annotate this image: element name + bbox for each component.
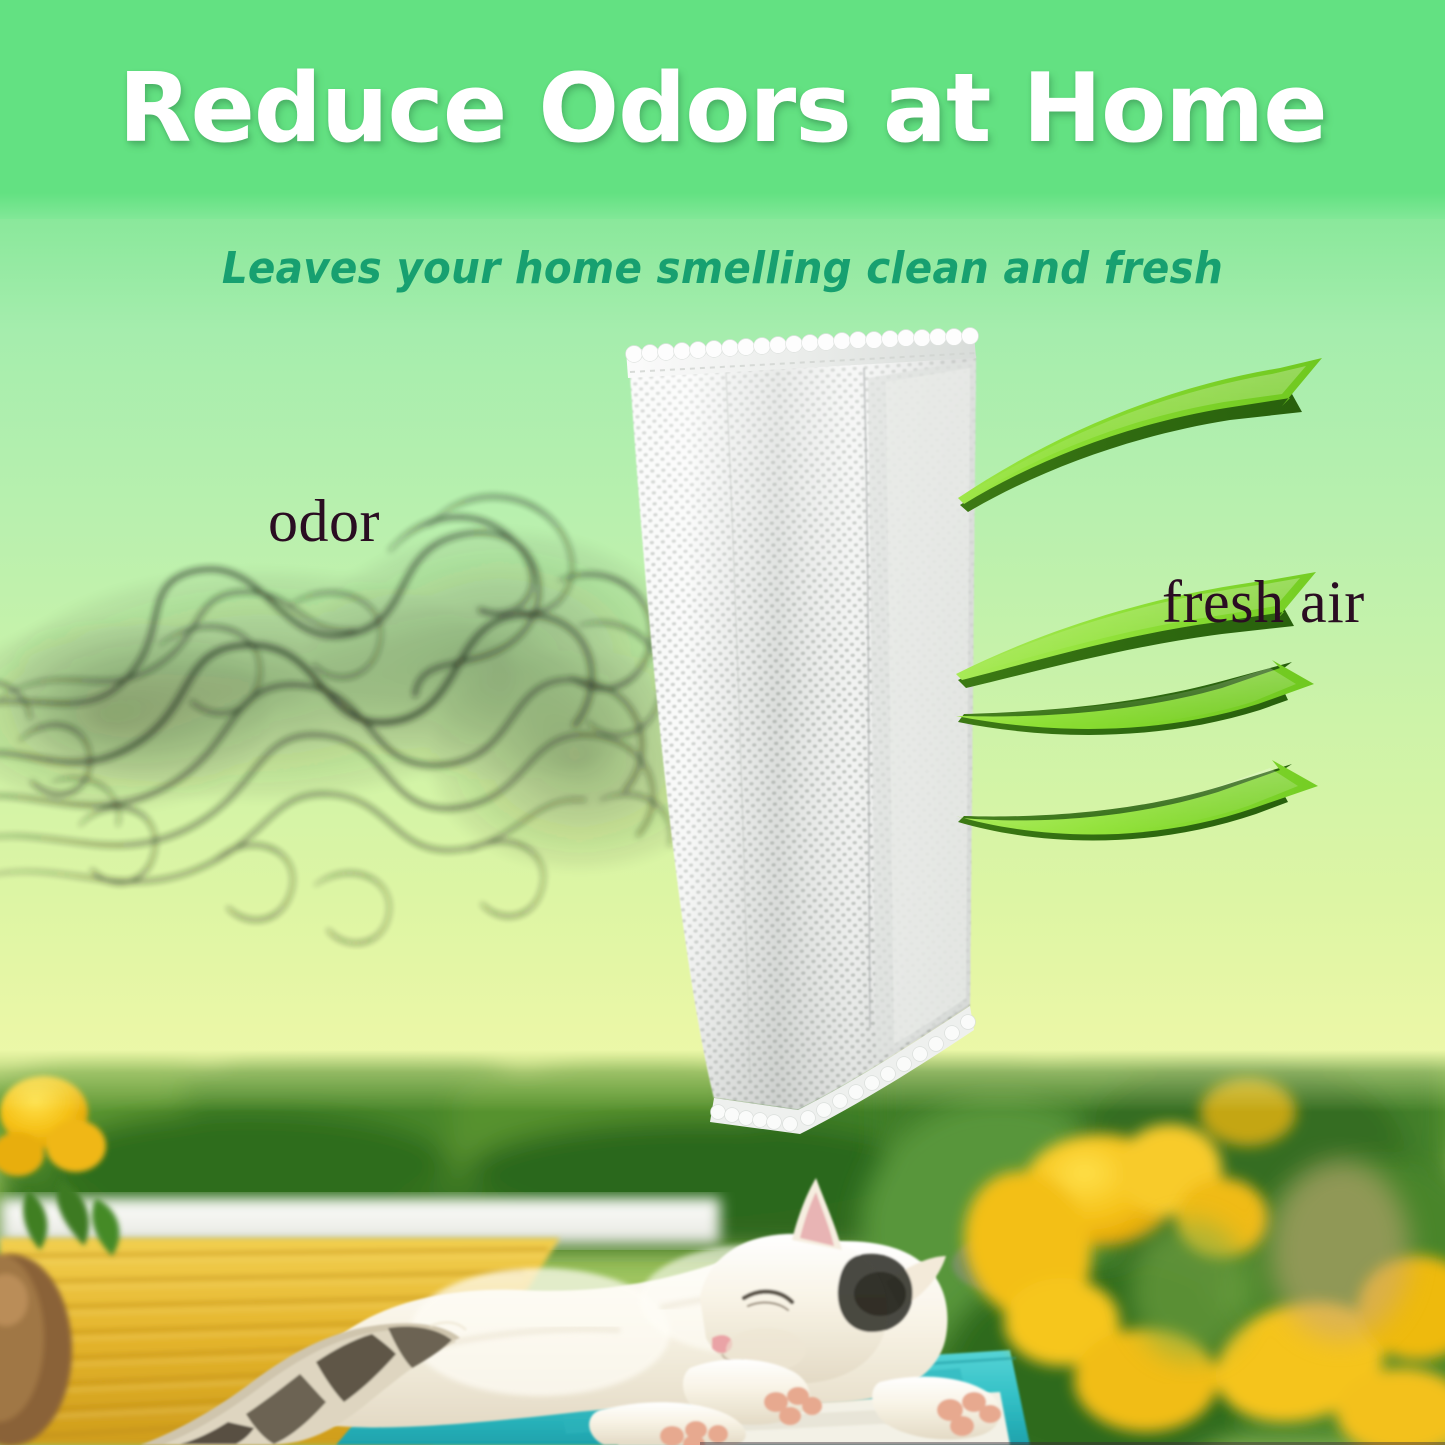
fresh-air-label: fresh air — [1162, 568, 1365, 637]
page-title: Reduce Odors at Home — [0, 62, 1445, 157]
page-subtitle: Leaves your home smelling clean and fres… — [58, 243, 1387, 294]
odor-label: odor — [268, 487, 380, 556]
product-marketing-poster: Reduce Odors at Home Leaves your home sm… — [0, 0, 1445, 1445]
